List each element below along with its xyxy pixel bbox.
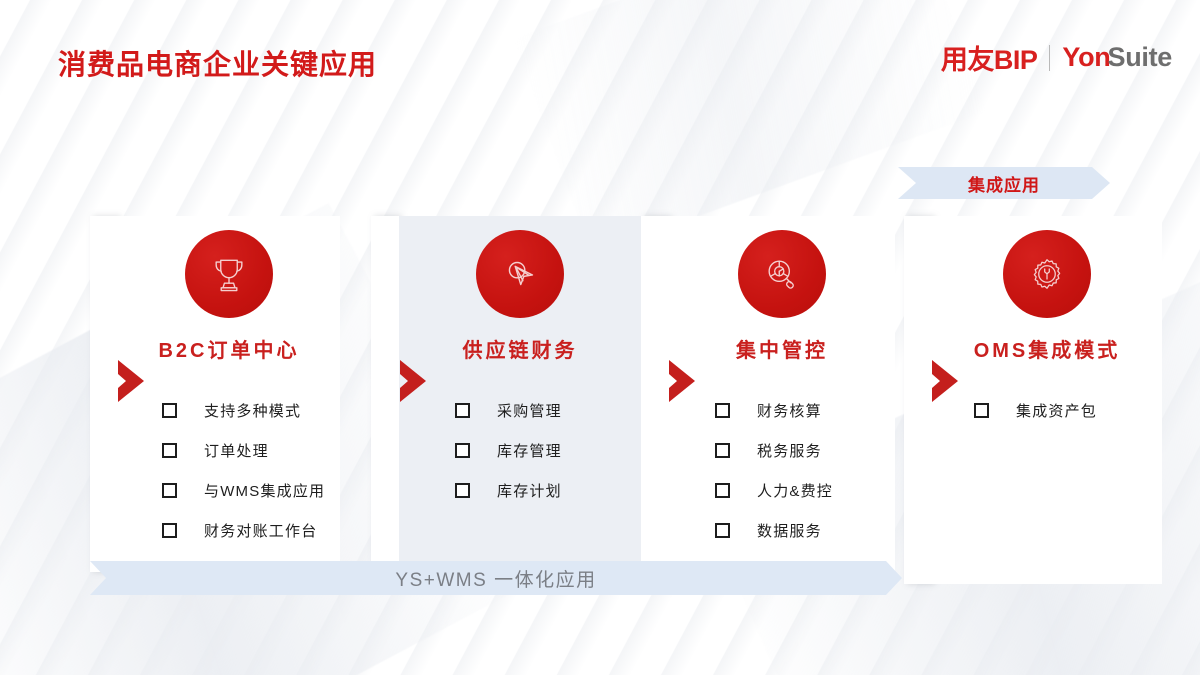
checkbox-icon	[715, 523, 730, 538]
list-item-label: 财务核算	[757, 400, 822, 421]
list-item[interactable]: 与WMS集成应用	[118, 470, 340, 510]
checkbox-icon	[974, 403, 989, 418]
card-bullet-list: 支持多种模式 订单处理 与WMS集成应用 财务对账工作台	[118, 390, 340, 550]
list-item-label: 人力&费控	[757, 480, 833, 501]
list-item[interactable]: 数据服务	[669, 510, 895, 550]
list-item-label: 税务服务	[757, 440, 822, 461]
card-spine	[371, 216, 399, 572]
ys-wms-integration-ribbon: YS+WMS 一体化应用	[90, 561, 902, 595]
chevron-right-icon	[396, 357, 440, 405]
list-item-label: 财务对账工作台	[204, 520, 317, 541]
card-bullet-list: 财务核算 税务服务 人力&费控 数据服务	[669, 390, 895, 550]
list-item[interactable]: 库存管理	[399, 430, 641, 470]
checkbox-icon	[455, 483, 470, 498]
slide-canvas: 消费品电商企业关键应用 用友BIP Yon Suite 集成应用	[0, 0, 1200, 675]
checkbox-icon	[162, 483, 177, 498]
gear-wrench-icon	[1003, 230, 1091, 318]
list-item-label: 采购管理	[497, 400, 562, 421]
cursor-pointer-icon	[476, 230, 564, 318]
trophy-icon	[185, 230, 273, 318]
checkbox-icon	[715, 483, 730, 498]
checkbox-icon	[455, 443, 470, 458]
list-item-label: 库存管理	[497, 440, 562, 461]
chevron-right-icon	[665, 357, 709, 405]
checkbox-icon	[162, 403, 177, 418]
list-item-label: 订单处理	[204, 440, 269, 461]
checkbox-icon	[162, 523, 177, 538]
list-item-label: 库存计划	[497, 480, 562, 501]
list-item[interactable]: 税务服务	[669, 430, 895, 470]
list-item[interactable]: 订单处理	[118, 430, 340, 470]
magnifier-chart-icon	[738, 230, 826, 318]
list-item-label: 支持多种模式	[204, 400, 301, 421]
chevron-right-icon	[114, 357, 158, 405]
list-item-label: 与WMS集成应用	[204, 480, 325, 501]
card-bullet-list: 采购管理 库存管理 库存计划	[399, 390, 641, 510]
list-item[interactable]: 人力&费控	[669, 470, 895, 510]
list-item-label: 集成资产包	[1016, 400, 1097, 421]
list-item-label: 数据服务	[757, 520, 822, 541]
checkbox-icon	[715, 403, 730, 418]
checkbox-icon	[715, 443, 730, 458]
list-item[interactable]: 库存计划	[399, 470, 641, 510]
checkbox-icon	[162, 443, 177, 458]
chevron-right-icon	[928, 357, 972, 405]
checkbox-icon	[455, 403, 470, 418]
list-item[interactable]: 财务对账工作台	[118, 510, 340, 550]
